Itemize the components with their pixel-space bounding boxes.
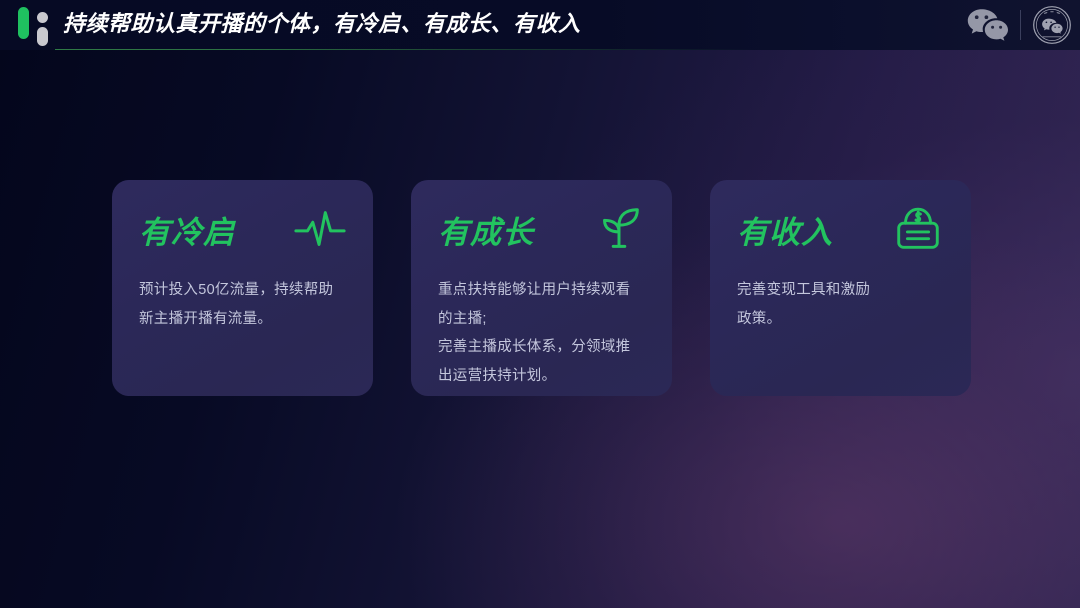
card-header: 有成长 [438,200,648,258]
card-header: 有收入 [737,200,947,258]
card-header: 有冷启 [139,200,349,258]
brand-bar [965,0,1072,50]
card-income[interactable]: 有收入 完善变现工具和激励 政策。 [710,180,971,396]
slide-canvas: 持续帮助认真开播的个体，有冷启、有成长、有收入 [0,0,1080,608]
gray-stem-icon [37,27,48,46]
card-row: 有冷启 预计投入50亿流量，持续帮助 新主播开播有流量。 有成长 [112,180,971,396]
pulse-icon [293,204,347,254]
wechat-icon [965,7,1009,43]
card-title: 有冷启 [139,207,235,252]
card-title: 有成长 [438,207,534,252]
brand-divider [1020,10,1021,40]
card-cold-start[interactable]: 有冷启 预计投入50亿流量，持续帮助 新主播开播有流量。 [112,180,373,396]
header-underline [55,49,755,50]
wechat-open-class-badge-icon [1032,5,1072,45]
card-title: 有收入 [737,207,833,252]
card-body-text: 重点扶持能够让用户持续观看 的主播; 完善主播成长体系，分领域推 出运营扶持计划… [438,276,648,390]
sprout-icon [592,204,646,254]
gray-dot-icon [37,12,48,23]
card-body-text: 预计投入50亿流量，持续帮助 新主播开播有流量。 [139,276,349,333]
card-growth[interactable]: 有成长 重点扶持能够让用户持续观看 的主播; 完善主播成长体系，分领域推 出运营… [411,180,672,396]
page-title: 持续帮助认真开播的个体，有冷启、有成长、有收入 [63,8,581,40]
header-mark [18,7,52,45]
slide-header: 持续帮助认真开播的个体，有冷启、有成长、有收入 [0,0,1080,50]
card-body-text: 完善变现工具和激励 政策。 [737,276,947,333]
money-bag-icon [891,204,945,254]
green-bar-icon [18,7,29,39]
